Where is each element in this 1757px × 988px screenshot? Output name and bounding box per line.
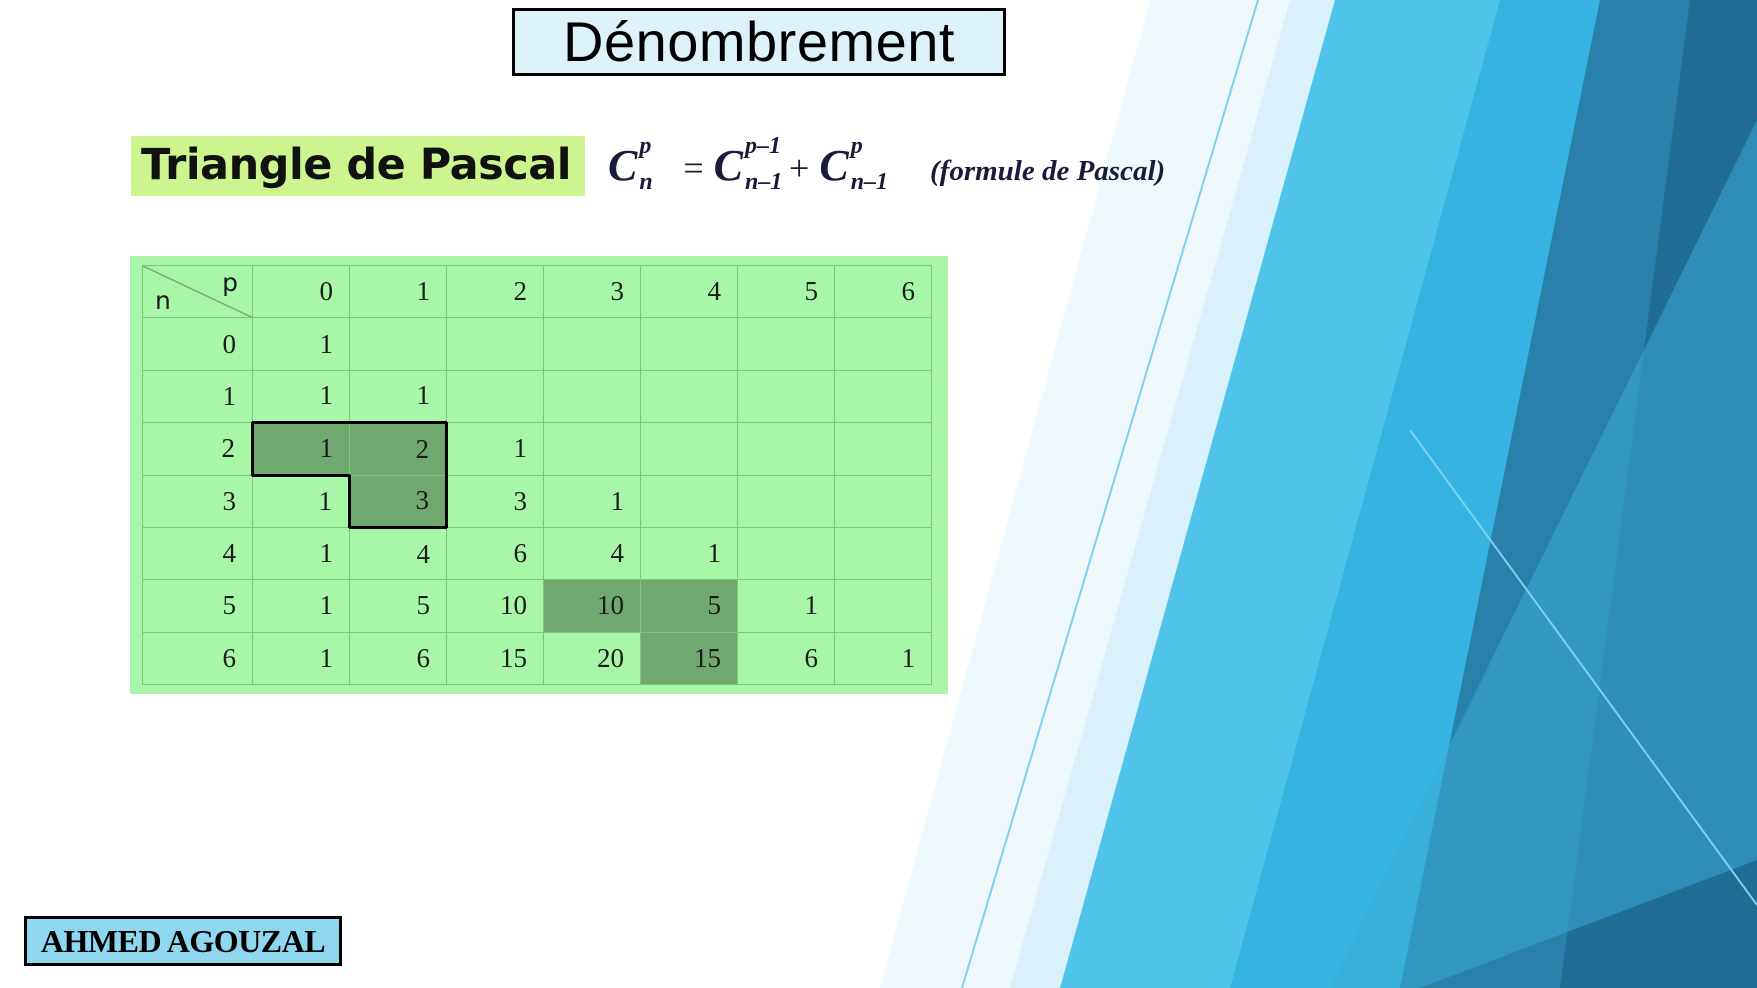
table-cell-n4-p2: 6 — [447, 527, 544, 579]
table-cell-n5-p3: 10 — [544, 580, 641, 632]
table-row-header-0: 0 — [143, 318, 253, 370]
table-cell-n0-p1 — [350, 318, 447, 370]
slide-canvas: Dénombrement Triangle de Pascal C p n = … — [0, 0, 1757, 988]
table-cell-n5-p4: 5 — [641, 580, 738, 632]
table-column-header-5: 5 — [738, 266, 835, 318]
table-cell-n1-p5 — [738, 370, 835, 422]
table-cell-n5-p2: 10 — [447, 580, 544, 632]
table-cell-n3-p1: 3 — [350, 475, 447, 527]
formula-caption: (formule de Pascal) — [930, 155, 1165, 188]
table-cell-n3-p0: 1 — [253, 475, 350, 527]
decor-shape-deep — [1400, 0, 1757, 988]
table-cell-n4-p3: 4 — [544, 527, 641, 579]
table-cell-n5-p6 — [835, 580, 932, 632]
table-cell-n2-p6 — [835, 423, 932, 475]
decor-shape-sky — [1060, 0, 1560, 988]
table-row-header-6: 6 — [143, 632, 253, 684]
table-cell-n0-p0: 1 — [253, 318, 350, 370]
table-cell-n5-p1: 5 — [350, 580, 447, 632]
table-cell-n6-p5: 6 — [738, 632, 835, 684]
table-column-header-0: 0 — [253, 266, 350, 318]
table-row-header-1: 1 — [143, 370, 253, 422]
pascal-triangle-table: pn01234560111121213133141464151510105161… — [142, 265, 932, 685]
table-cell-n1-p2 — [447, 370, 544, 422]
table-cell-n6-p2: 15 — [447, 632, 544, 684]
table-cell-n1-p6 — [835, 370, 932, 422]
pascal-triangle-panel: pn01234560111121213133141464151510105161… — [130, 256, 948, 694]
table-cell-n2-p5 — [738, 423, 835, 475]
table-cell-n3-p4 — [641, 475, 738, 527]
table-cell-n0-p4 — [641, 318, 738, 370]
table-column-header-6: 6 — [835, 266, 932, 318]
table-row-header-4: 4 — [143, 527, 253, 579]
table-cell-n4-p4: 1 — [641, 527, 738, 579]
table-row: 515101051 — [143, 580, 932, 632]
table-cell-n6-p6: 1 — [835, 632, 932, 684]
formula-rhs1-base: C — [714, 141, 743, 190]
decor-shape-overlay — [1330, 120, 1757, 988]
table-column-header-2: 2 — [447, 266, 544, 318]
table-row: 111 — [143, 370, 932, 422]
table-row-header-2: 2 — [143, 423, 253, 475]
table-column-header-4: 4 — [641, 266, 738, 318]
table-column-header-3: 3 — [544, 266, 641, 318]
table-cell-n4-p0: 1 — [253, 527, 350, 579]
table-cell-n1-p3 — [544, 370, 641, 422]
table-cell-n6-p1: 6 — [350, 632, 447, 684]
author-badge: AHMED AGOUZAL — [24, 916, 342, 966]
author-name: AHMED AGOUZAL — [41, 923, 325, 960]
table-cell-n3-p3: 1 — [544, 475, 641, 527]
formula-rhs2-superscript: p — [851, 134, 863, 158]
table-cell-n1-p1: 1 — [350, 370, 447, 422]
decor-shape-palest — [1010, 0, 1360, 988]
table-cell-n1-p4 — [641, 370, 738, 422]
table-cell-n2-p1: 2 — [350, 423, 447, 475]
formula-lhs-base: C — [608, 141, 637, 190]
table-row-header-3: 3 — [143, 475, 253, 527]
table-corner-col-label: p — [222, 268, 238, 297]
page-title: Dénombrement — [512, 8, 1006, 76]
table-cell-n2-p2: 1 — [447, 423, 544, 475]
table-cell-n6-p0: 1 — [253, 632, 350, 684]
table-cell-n2-p0: 1 — [253, 423, 350, 475]
formula-plus-sign: + — [779, 147, 819, 189]
table-row: 414641 — [143, 527, 932, 579]
table-cell-n4-p5 — [738, 527, 835, 579]
table-row-header-5: 5 — [143, 580, 253, 632]
table-cell-n1-p0: 1 — [253, 370, 350, 422]
formula-rhs2-subscript: n–1 — [851, 170, 888, 194]
table-cell-n0-p2 — [447, 318, 544, 370]
formula-term-rhs2: C p n–1 — [819, 140, 850, 191]
table-cell-n4-p1: 4 — [350, 527, 447, 579]
formula-lhs-subscript: n — [639, 170, 652, 194]
formula-rhs1-subscript: n–1 — [745, 170, 782, 194]
table-cell-n0-p5 — [738, 318, 835, 370]
table-row: 61615201561 — [143, 632, 932, 684]
table-cell-n3-p2: 3 — [447, 475, 544, 527]
table-cell-n5-p5: 1 — [738, 580, 835, 632]
formula-rhs1-superscript: p–1 — [745, 134, 781, 158]
table-corner-cell: pn — [143, 266, 253, 318]
table-cell-n2-p4 — [641, 423, 738, 475]
table-row: 2121 — [143, 423, 932, 475]
table-header-row: pn0123456 — [143, 266, 932, 318]
table-row: 31331 — [143, 475, 932, 527]
table-row: 01 — [143, 318, 932, 370]
decor-hairline-2 — [1410, 430, 1757, 905]
table-corner-row-label: n — [155, 286, 171, 315]
table-cell-n0-p3 — [544, 318, 641, 370]
table-cell-n6-p3: 20 — [544, 632, 641, 684]
decor-shape-dark — [1560, 0, 1757, 988]
table-cell-n0-p6 — [835, 318, 932, 370]
formula-term-rhs1: C p–1 n–1 — [714, 140, 745, 191]
page-title-text: Dénombrement — [563, 14, 955, 70]
decor-shape-mid — [1230, 0, 1660, 988]
table-cell-n3-p6 — [835, 475, 932, 527]
section-heading: Triangle de Pascal — [131, 136, 585, 196]
section-heading-text: Triangle de Pascal — [141, 140, 571, 190]
formula-lhs-superscript: p — [639, 134, 651, 158]
formula-term-lhs: C p n — [608, 140, 639, 191]
formula-equals-sign: = — [673, 147, 713, 189]
table-cell-n2-p3 — [544, 423, 641, 475]
table-cell-n5-p0: 1 — [253, 580, 350, 632]
pascal-formula: C p n = C p–1 n–1 + C p n–1 — [608, 140, 869, 191]
table-cell-n6-p4: 15 — [641, 632, 738, 684]
table-cell-n3-p5 — [738, 475, 835, 527]
table-column-header-1: 1 — [350, 266, 447, 318]
formula-rhs2-base: C — [819, 141, 848, 190]
table-cell-n4-p6 — [835, 527, 932, 579]
decor-hairline-1 — [962, 0, 1258, 988]
